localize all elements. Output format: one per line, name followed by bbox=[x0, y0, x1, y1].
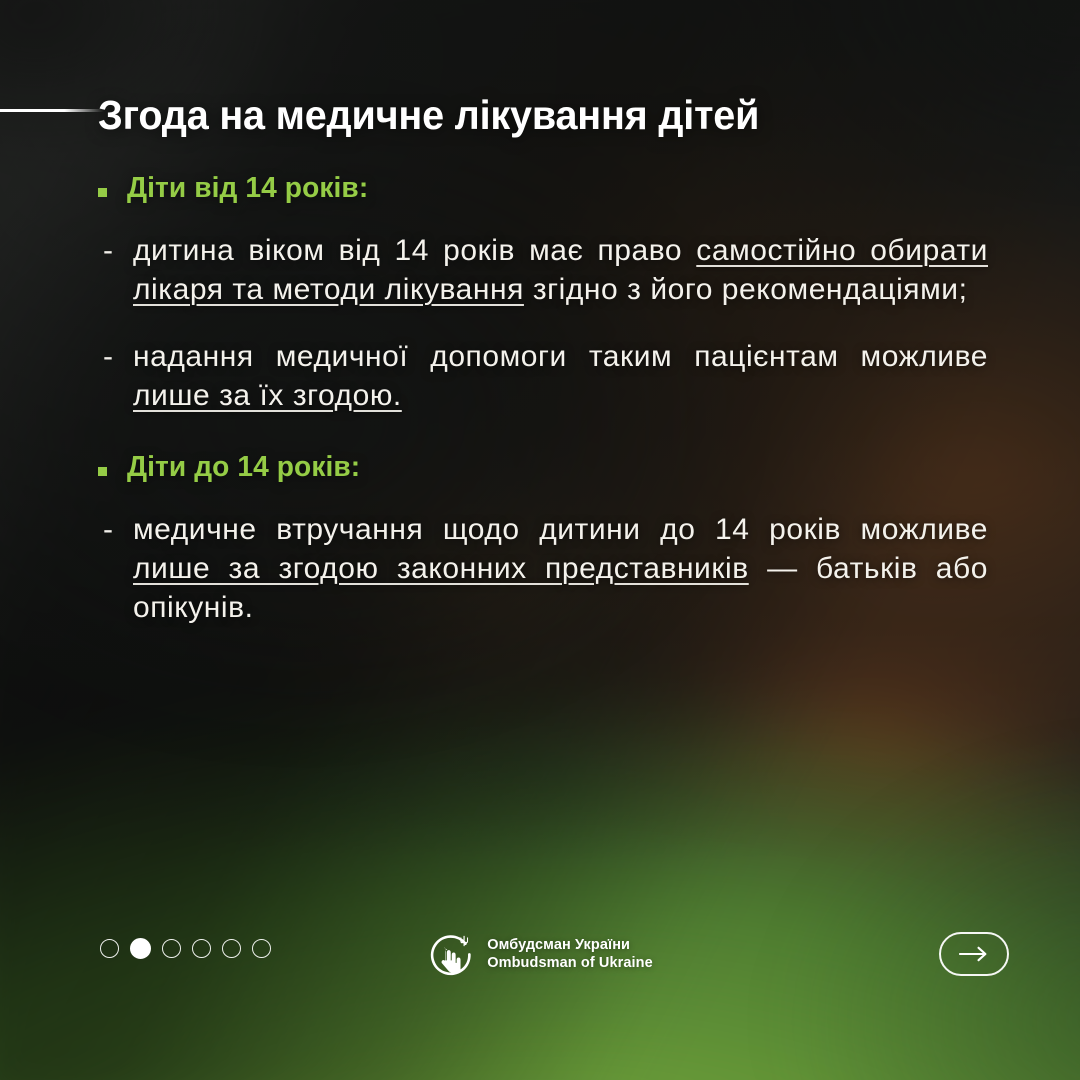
next-slide-button[interactable] bbox=[939, 932, 1009, 976]
square-bullet-icon bbox=[98, 188, 107, 197]
pagination-dot-6[interactable] bbox=[252, 939, 271, 958]
logo-line-uk: Омбудсман України bbox=[487, 937, 653, 955]
dash-bullet-icon: - bbox=[98, 231, 118, 309]
section-heading-1: Діти від 14 років: bbox=[98, 172, 988, 205]
pagination-dot-1[interactable] bbox=[100, 939, 119, 958]
logo-text: Омбудсман України Ombudsman of Ukraine bbox=[487, 937, 653, 972]
pagination-dots[interactable] bbox=[100, 938, 271, 959]
section-heading-2: Діти до 14 років: bbox=[98, 451, 988, 484]
list-item: - дитина віком від 14 років має право са… bbox=[98, 231, 988, 309]
slide-footer: Омбудсман України Ombudsman of Ukraine bbox=[0, 930, 1080, 1080]
title-rule bbox=[0, 109, 104, 112]
page-title: Згода на медичне лікування дітей bbox=[98, 93, 967, 139]
list-item: - надання медичної допомоги таким пацієн… bbox=[98, 337, 988, 415]
pagination-dot-5[interactable] bbox=[222, 939, 241, 958]
list-item-text: дитина віком від 14 років має право само… bbox=[133, 231, 988, 309]
list-item: - медичне втручання щодо дитини до 14 ро… bbox=[98, 510, 988, 627]
ombudsman-logo: Омбудсман України Ombudsman of Ukraine bbox=[427, 930, 653, 979]
dash-bullet-icon: - bbox=[98, 337, 118, 415]
pagination-dot-4[interactable] bbox=[192, 939, 211, 958]
logo-line-en: Ombudsman of Ukraine bbox=[487, 955, 653, 973]
hand-trident-circle-icon bbox=[427, 930, 476, 979]
dash-bullet-icon: - bbox=[98, 510, 118, 627]
slide-content: Згода на медичне лікування дітей Діти ві… bbox=[0, 0, 1080, 1080]
square-bullet-icon bbox=[98, 467, 107, 476]
pagination-dot-2[interactable] bbox=[130, 938, 151, 959]
arrow-right-icon bbox=[959, 946, 989, 962]
body-content: Діти від 14 років: - дитина віком від 14… bbox=[98, 172, 988, 627]
list-item-text: медичне втручання щодо дитини до 14 рокі… bbox=[133, 510, 988, 627]
slide-canvas: Згода на медичне лікування дітей Діти ві… bbox=[0, 0, 1080, 1080]
pagination-dot-3[interactable] bbox=[162, 939, 181, 958]
list-item-text: надання медичної допомоги таким пацієнта… bbox=[133, 337, 988, 415]
section-heading-label: Діти від 14 років: bbox=[127, 172, 368, 205]
section-heading-label: Діти до 14 років: bbox=[127, 451, 360, 484]
